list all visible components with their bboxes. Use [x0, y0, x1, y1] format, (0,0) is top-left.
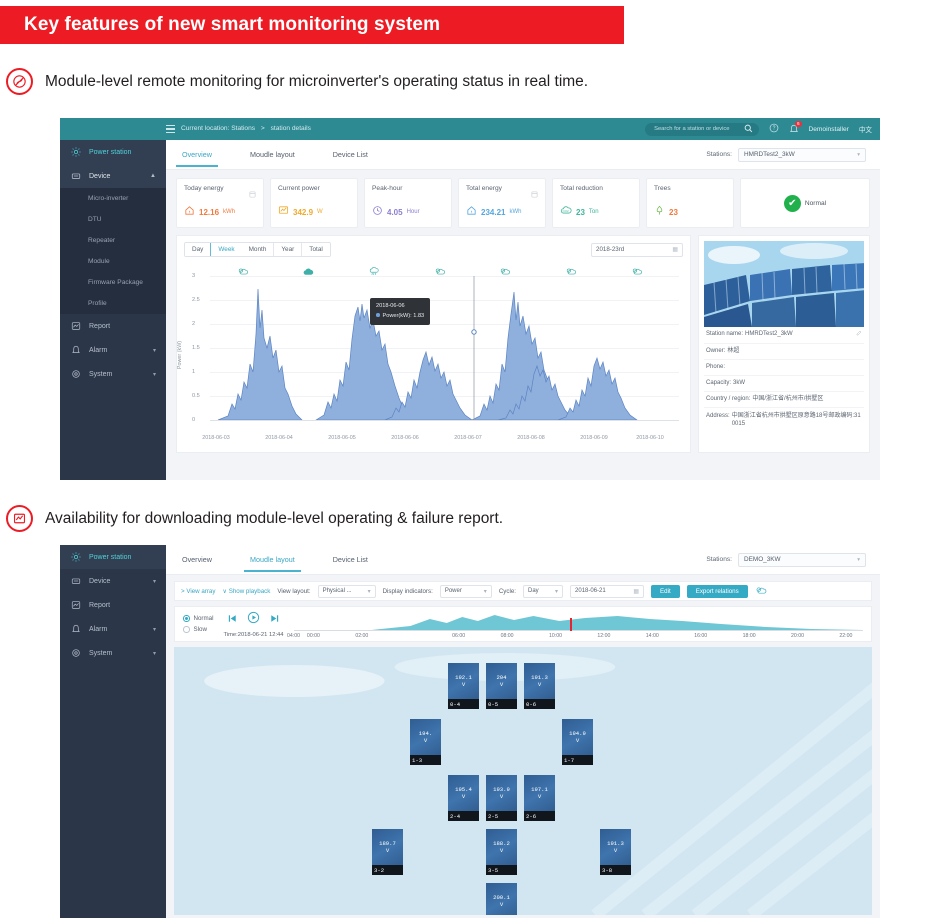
sidebar-label: System	[89, 650, 145, 657]
range-label: Month	[249, 246, 267, 253]
weather-icon-row	[210, 263, 679, 276]
station-select-dropdown[interactable]: HMRDTest2_3kW ▾	[738, 148, 866, 162]
range-label: Total	[309, 246, 323, 253]
chevron-down-icon: ▾	[153, 347, 156, 354]
check-icon: ✔	[784, 195, 801, 212]
info-key: Capacity:	[706, 379, 731, 388]
card-value: 12.16	[199, 208, 219, 217]
calendar-icon: ▦	[672, 246, 678, 253]
sidebar-label: Report	[89, 323, 156, 330]
module-id: 2-6	[524, 811, 555, 821]
module-id: 0-6	[524, 699, 555, 709]
app1-content: Overview Moudle layout Device List Stati…	[166, 140, 880, 480]
app1-sidebar: Power station Device ▲ Micro-inverter DT…	[60, 140, 166, 480]
chevron-down-icon: ▾	[153, 371, 156, 378]
card-value: 342.9	[293, 208, 313, 217]
module-unit: V	[386, 847, 389, 854]
module-panel[interactable]: 194. V 1-3	[410, 719, 441, 765]
module-reading: 194.	[419, 730, 432, 737]
view-layout-value: Physical ...	[323, 588, 352, 594]
module-value: 189.7 V	[372, 829, 403, 865]
speed-radio-group: Normal Slow	[183, 615, 213, 633]
chevron-down-icon: ▾	[857, 557, 860, 563]
radio-slow[interactable]	[183, 626, 190, 633]
step-forward-icon[interactable]	[269, 611, 280, 629]
notification-bell-icon[interactable]: 6	[789, 124, 799, 134]
y-tick: 0	[192, 417, 195, 423]
module-panel[interactable]: 191.3 V 3-8	[600, 829, 631, 875]
card-unit: Ton	[589, 209, 599, 215]
module-id: 1-7	[562, 755, 593, 765]
cycle-value: Day	[528, 588, 539, 594]
sun-icon	[70, 552, 81, 563]
card-title: Trees	[654, 185, 671, 192]
x-tick: 2018-06-10	[636, 435, 664, 441]
svg-text:?: ?	[772, 126, 775, 132]
info-row-country-region: Country / region: 中国/浙江省/杭州市/拱墅区	[704, 392, 864, 408]
breadcrumb-current: station details	[271, 125, 311, 132]
module-id: 2-4	[448, 811, 479, 821]
card-title: Today energy	[184, 185, 224, 192]
module-unit: V	[576, 737, 579, 744]
timeline-tick: 16:00	[694, 633, 707, 639]
sidebar-item-report[interactable]: Report	[60, 314, 166, 338]
tooltip-series: Power(kW):	[383, 313, 412, 319]
export-relations-button[interactable]: Export relations	[687, 585, 748, 598]
sidebar-item-system[interactable]: System ▾	[60, 362, 166, 386]
layout-toolbar: > View array ∨ Show playback View layout…	[174, 581, 872, 601]
card-title: Peak-hour	[372, 185, 402, 192]
station-info-panel: Station name: HMRDTest2_3kW Owner: 林超 Ph…	[698, 235, 870, 453]
x-tick: 2018-06-04	[265, 435, 293, 441]
module-reading: 195.4	[455, 786, 472, 793]
alarm-icon	[70, 345, 81, 356]
y-tick: 1.5	[192, 345, 200, 351]
module-panel[interactable]: 200.1 V 4-5	[486, 883, 517, 915]
timeline-tick: 12:00	[597, 633, 610, 639]
module-unit: V	[538, 793, 541, 800]
playback-time: Time:2018-06-21 12:44	[223, 632, 283, 638]
info-row-station-name: Station name: HMRDTest2_3kW	[704, 327, 864, 344]
card-value: 4.05	[387, 208, 403, 217]
submenu-label: Module	[88, 258, 110, 265]
range-month[interactable]: Month	[242, 243, 275, 256]
tab-label: Device List	[333, 150, 368, 159]
page-banner: Key features of new smart monitoring sys…	[0, 6, 624, 44]
display-indicators-select[interactable]: Power ▾	[440, 585, 492, 598]
x-tick: 2018-06-06	[391, 435, 419, 441]
app1-topbar: Current location: Stations > station det…	[60, 118, 880, 140]
station-selector: Stations: HMRDTest2_3kW ▾	[706, 148, 880, 162]
chevron-down-icon: ▾	[153, 626, 156, 633]
sidebar-item-firmware-package[interactable]: Firmware Package	[60, 272, 166, 293]
info-key: Owner:	[706, 347, 725, 356]
power-chart-panel: Day Week Month Year Total 2018-23rd ▦ Po…	[176, 235, 691, 453]
menu-hamburger-icon[interactable]	[166, 125, 175, 133]
module-value: 191.3 V	[600, 829, 631, 865]
sidebar-label: Alarm	[89, 347, 145, 354]
show-playback-label: Show playback	[229, 588, 271, 595]
cloud-icon	[755, 582, 767, 600]
module-layout-stage[interactable]: 192.1 V 0-4 204 V 0-5 191.3 V 0-6	[174, 647, 872, 915]
info-key: Country / region:	[706, 395, 750, 404]
chart-date-value: 2018-23rd	[596, 246, 624, 253]
view-layout-select[interactable]: Physical ... ▾	[318, 585, 376, 598]
card-title: Current power	[278, 185, 320, 192]
module-id: 0-5	[486, 699, 517, 709]
card-title: Total reduction	[560, 185, 603, 192]
language-toggle[interactable]: 中文	[859, 124, 872, 134]
chart-series-area	[210, 276, 650, 420]
submenu-label: DTU	[88, 216, 102, 223]
app1-tabs: Overview Moudle layout Device List Stati…	[166, 140, 880, 170]
calendar-icon: ▦	[633, 588, 639, 595]
tooltip-value: 1.83	[413, 313, 424, 319]
search-input[interactable]: Search for a station or device	[645, 123, 758, 136]
module-panel[interactable]: 189.7 V 3-2	[372, 829, 403, 875]
module-panel[interactable]: 197.1 V 2-6	[524, 775, 555, 821]
cycle-select[interactable]: Day ▾	[523, 585, 563, 598]
tooltip-date: 2018-06-06	[376, 302, 424, 312]
info-value: 中国/浙江省/杭州市/拱墅区	[752, 395, 823, 404]
view-array-label: View array	[186, 588, 215, 595]
module-id: 1-3	[410, 755, 441, 765]
range-total[interactable]: Total	[302, 243, 330, 256]
info-value: 中国浙江省杭州市拱墅区原意路18号邮政编码:310015	[732, 412, 862, 429]
chevron-down-icon: ▾	[153, 650, 156, 657]
info-key: Station name:	[706, 330, 743, 339]
sidebar-label: System	[89, 371, 145, 378]
help-icon[interactable]: ?	[769, 120, 779, 138]
sun-icon	[70, 147, 81, 158]
sidebar-item-dtu[interactable]: DTU	[60, 209, 166, 230]
sidebar-label: Alarm	[89, 626, 145, 633]
submenu-label: Firmware Package	[88, 279, 143, 286]
module-value: 188.2 V	[486, 829, 517, 865]
y-tick: 1	[192, 369, 195, 375]
screenshot-module-layout: Power station Device ▾ Report Alarm ▾	[60, 545, 880, 918]
search-placeholder: Search for a station or device	[654, 126, 729, 132]
range-button-group: Day Week Month Year Total	[184, 242, 331, 257]
card-unit: kWh	[223, 209, 235, 215]
tab-device-list[interactable]: Device List	[331, 548, 370, 571]
timeline-tick: 08:00	[501, 633, 514, 639]
tree-icon	[654, 203, 665, 221]
timeline-tick: 20:00	[791, 633, 804, 639]
sidebar-item-micro-inverter[interactable]: Micro-inverter	[60, 188, 166, 209]
module-reading: 194.9	[569, 730, 586, 737]
sidebar-label: Report	[89, 602, 156, 609]
sidebar-item-power-station[interactable]: Power station	[60, 140, 166, 164]
sidebar-item-power-station[interactable]: Power station	[60, 545, 166, 569]
display-indicators-label: Display indicators:	[383, 588, 433, 595]
user-menu[interactable]: Demoinstaller	[809, 126, 849, 133]
tab-label: Overview	[182, 150, 212, 159]
module-unit: V	[462, 681, 465, 688]
submenu-label: Repeater	[88, 237, 115, 244]
tab-moudle-layout[interactable]: Moudle layout	[248, 548, 297, 571]
y-tick: 2	[192, 321, 195, 327]
y-tick: 0.5	[192, 393, 200, 399]
breadcrumb: Current location: Stations > station det…	[60, 125, 311, 133]
module-reading: 188.2	[493, 840, 510, 847]
speed-label: Slow	[194, 626, 207, 633]
breadcrumb-root[interactable]: Stations	[231, 125, 255, 132]
module-value: 200.1 V	[486, 883, 517, 915]
breadcrumb-separator: >	[261, 125, 265, 132]
station-selector-label: Stations:	[706, 556, 732, 563]
timeline-tick: 04:00	[287, 633, 300, 639]
module-reading: 193.9	[493, 786, 510, 793]
card-unit: Hour	[407, 209, 420, 215]
timeline-tick: 18:00	[743, 633, 756, 639]
speed-label: Normal	[194, 615, 214, 622]
module-panel[interactable]: 192.1 V 0-4	[448, 663, 479, 709]
y-tick: 2.5	[192, 297, 200, 303]
stage-background	[174, 647, 872, 915]
module-id: 3-5	[486, 865, 517, 875]
sidebar-label: Device	[89, 173, 142, 180]
module-unit: V	[500, 901, 503, 908]
edit-button[interactable]: Edit	[651, 585, 680, 598]
tooltip-series-dot	[376, 313, 380, 317]
module-id: 3-2	[372, 865, 403, 875]
card-unit: W	[317, 209, 323, 215]
info-value: 林超	[727, 347, 739, 356]
info-row-address: Address: 中国浙江省杭州市拱墅区原意路18号邮政编码:310015	[704, 408, 864, 432]
x-tick: 2018-06-05	[328, 435, 356, 441]
station-selector-label: Stations:	[706, 151, 732, 158]
card-today-energy: Today energy 12.16 kWh	[176, 178, 264, 228]
range-label: Day	[192, 246, 203, 253]
module-panel[interactable]: 194.9 V 1-7	[562, 719, 593, 765]
chart-controls: Day Week Month Year Total 2018-23rd ▦	[184, 242, 683, 257]
chart-tooltip: 2018-06-06 Power(kW): 1.83	[370, 298, 430, 325]
sidebar-item-repeater[interactable]: Repeater	[60, 230, 166, 251]
step-back-icon[interactable]	[227, 611, 238, 629]
station-select-value: DEMO_3KW	[744, 556, 781, 563]
x-tick: 2018-06-08	[517, 435, 545, 441]
sidebar-item-alarm[interactable]: Alarm ▾	[60, 617, 166, 641]
module-reading: 191.3	[607, 840, 624, 847]
module-panel[interactable]: 204 V 0-5	[486, 663, 517, 709]
info-key: Address:	[706, 412, 730, 421]
house-icon	[466, 203, 477, 221]
playback-controls: Time:2018-06-21 12:44	[223, 611, 283, 638]
module-unit: V	[500, 793, 503, 800]
radio-normal[interactable]	[183, 615, 190, 622]
sidebar-item-report[interactable]: Report	[60, 593, 166, 617]
module-value: 191.3 V	[524, 663, 555, 699]
submenu-label: Micro-inverter	[88, 195, 128, 202]
module-unit: V	[614, 847, 617, 854]
screenshot-monitoring-overview: Current location: Stations > station det…	[60, 118, 880, 480]
module-unit: V	[538, 681, 541, 688]
module-unit: V	[500, 681, 503, 688]
timeline-tick: 02:00	[355, 633, 368, 639]
module-reading: 200.1	[493, 894, 510, 901]
sidebar-item-alarm[interactable]: Alarm ▾	[60, 338, 166, 362]
range-label: Week	[218, 246, 234, 253]
info-value: HMRDTest2_3kW	[745, 330, 793, 339]
info-row-capacity: Capacity: 3kW	[704, 376, 864, 392]
app2-sidebar: Power station Device ▾ Report Alarm ▾	[60, 545, 166, 918]
info-key: Phone:	[706, 363, 725, 372]
chevron-down-icon: ▾	[555, 588, 558, 595]
module-value: 195.4 V	[448, 775, 479, 811]
feature-text-1: Module-level remote monitoring for micro…	[45, 73, 588, 91]
card-value: 234.21	[481, 208, 505, 217]
module-unit: V	[462, 793, 465, 800]
module-reading: 192.1	[455, 674, 472, 681]
module-reading: 189.7	[379, 840, 396, 847]
device-icon	[70, 576, 81, 587]
gear-icon	[70, 369, 81, 380]
alarm-icon	[70, 624, 81, 635]
timeline-tick: 06:00	[452, 633, 465, 639]
module-reading: 204	[496, 674, 506, 681]
tab-moudle-layout[interactable]: Moudle layout	[248, 143, 297, 166]
layout-date-value: 2018-06-21	[575, 588, 606, 594]
speed-option-normal[interactable]: Normal	[183, 615, 213, 622]
card-total-energy: Total energy 234.21 kWh	[458, 178, 546, 228]
speed-option-slow[interactable]: Slow	[183, 626, 213, 633]
edit-icon[interactable]	[856, 330, 862, 340]
page-title: Key features of new smart monitoring sys…	[24, 14, 440, 36]
module-reading: 197.1	[531, 786, 548, 793]
sidebar-item-device[interactable]: Device ▾	[60, 569, 166, 593]
tab-overview[interactable]: Overview	[180, 143, 214, 166]
timeline-playhead[interactable]	[570, 618, 572, 631]
device-submenu: Micro-inverter DTU Repeater Module Firmw…	[60, 188, 166, 314]
module-value: 204 V	[486, 663, 517, 699]
module-id: 0-4	[448, 699, 479, 709]
sidebar-label: Power station	[89, 149, 156, 156]
range-week[interactable]: Week	[210, 242, 242, 257]
device-icon	[70, 171, 81, 182]
range-day[interactable]: Day	[185, 243, 211, 256]
summary-cards: Today energy 12.16 kWh Current power 342…	[166, 170, 880, 228]
chart-and-info: Day Week Month Year Total 2018-23rd ▦ Po…	[166, 228, 880, 453]
feature-text-2: Availability for downloading module-leve…	[45, 510, 503, 528]
co2-cloud-icon: CO2	[560, 203, 572, 221]
card-title: Total energy	[466, 185, 502, 192]
chevron-down-icon: ▾	[857, 152, 860, 158]
show-playback-link[interactable]: ∨ Show playback	[222, 588, 270, 595]
submenu-label: Profile	[88, 300, 107, 307]
card-total-reduction: Total reduction CO2 23 Ton	[552, 178, 640, 228]
no-signal-circle-icon	[6, 68, 33, 95]
status-text: Normal	[805, 200, 826, 207]
sidebar-label: Device	[89, 578, 145, 585]
module-value: 192.1 V	[448, 663, 479, 699]
card-trees: Trees 23	[646, 178, 734, 228]
module-panel[interactable]: 188.2 V 3-5	[486, 829, 517, 875]
timeline-tick: 00:00	[307, 633, 320, 639]
app2-tabs: Overview Moudle layout Device List Stati…	[166, 545, 880, 575]
monitor-icon	[278, 203, 289, 221]
range-year[interactable]: Year	[274, 243, 302, 256]
report-icon	[70, 321, 81, 332]
detail-icon[interactable]	[249, 185, 256, 203]
tab-label: Moudle layout	[250, 555, 295, 564]
module-panel[interactable]: 193.9 V 2-5	[486, 775, 517, 821]
search-icon[interactable]	[744, 124, 753, 135]
card-value: 23	[576, 208, 585, 217]
tab-label: Device List	[333, 555, 368, 564]
tab-label: Overview	[182, 555, 212, 564]
station-selector: Stations: DEMO_3KW ▾	[706, 553, 880, 567]
playback-timeline[interactable]: 00:00 02:00 04:00 06:00 08:00 10:00 12:0…	[294, 609, 864, 639]
x-tick: 2018-06-03	[202, 435, 230, 441]
card-unit: kWh	[509, 209, 521, 215]
chevron-down-icon: ▾	[484, 588, 487, 595]
play-icon[interactable]	[247, 611, 260, 629]
chart-date-picker[interactable]: 2018-23rd ▦	[591, 243, 683, 257]
y-axis-label: Power (kW)	[177, 341, 183, 369]
module-panel[interactable]: 195.4 V 2-4	[448, 775, 479, 821]
module-panel[interactable]: 191.3 V 0-6	[524, 663, 555, 709]
feature-row-1: Module-level remote monitoring for micro…	[6, 68, 588, 95]
feature-row-2: Availability for downloading module-leve…	[6, 505, 503, 532]
cycle-label: Cycle:	[499, 588, 516, 595]
station-select-dropdown[interactable]: DEMO_3KW ▾	[738, 553, 866, 567]
module-id: 2-5	[486, 811, 517, 821]
station-select-value: HMRDTest2_3kW	[744, 151, 795, 158]
tab-overview[interactable]: Overview	[180, 548, 214, 571]
report-icon	[70, 600, 81, 611]
view-array-link[interactable]: > View array	[181, 588, 215, 595]
module-value: 193.9 V	[486, 775, 517, 811]
module-value: 194. V	[410, 719, 441, 755]
sidebar-item-profile[interactable]: Profile	[60, 293, 166, 314]
module-reading: 191.3	[531, 674, 548, 681]
chevron-down-icon: ▾	[368, 588, 371, 595]
notification-badge: 6	[795, 121, 802, 127]
topbar-actions: Search for a station or device ? 6 Demoi…	[645, 120, 880, 138]
breadcrumb-prefix: Current location:	[181, 125, 229, 132]
layout-date-picker[interactable]: 2018-06-21 ▦	[570, 585, 644, 598]
module-value: 194.9 V	[562, 719, 593, 755]
timeline-tick: 14:00	[646, 633, 659, 639]
card-peak-hour: Peak-hour 4.05 Hour	[364, 178, 452, 228]
card-current-power: Current power 342.9 W	[270, 178, 358, 228]
sidebar-item-system[interactable]: System ▾	[60, 641, 166, 665]
module-id: 3-8	[600, 865, 631, 875]
tab-device-list[interactable]: Device List	[331, 143, 370, 166]
info-row-owner: Owner: 林超	[704, 344, 864, 360]
module-unit: V	[424, 737, 427, 744]
sidebar-item-device[interactable]: Device ▲	[60, 164, 166, 188]
station-photo	[704, 241, 864, 327]
module-value: 197.1 V	[524, 775, 555, 811]
display-indicators-value: Power	[445, 588, 462, 594]
svg-text:CO2: CO2	[562, 209, 569, 213]
y-tick: 3	[192, 273, 195, 279]
module-unit: V	[500, 847, 503, 854]
status-badge: ✔ Normal	[740, 178, 870, 228]
x-tick: 2018-06-09	[580, 435, 608, 441]
info-row-phone: Phone:	[704, 360, 864, 376]
chevron-down-icon: ▾	[153, 578, 156, 585]
house-icon	[184, 203, 195, 221]
detail-icon[interactable]	[531, 185, 538, 203]
chevron-up-icon: ▲	[150, 173, 156, 179]
playback-bar: Normal Slow Time:2018-06-21 12:44	[174, 606, 872, 642]
app2-content: Overview Moudle layout Device List Stati…	[166, 545, 880, 918]
x-tick: 2018-06-07	[454, 435, 482, 441]
sidebar-item-module[interactable]: Module	[60, 251, 166, 272]
